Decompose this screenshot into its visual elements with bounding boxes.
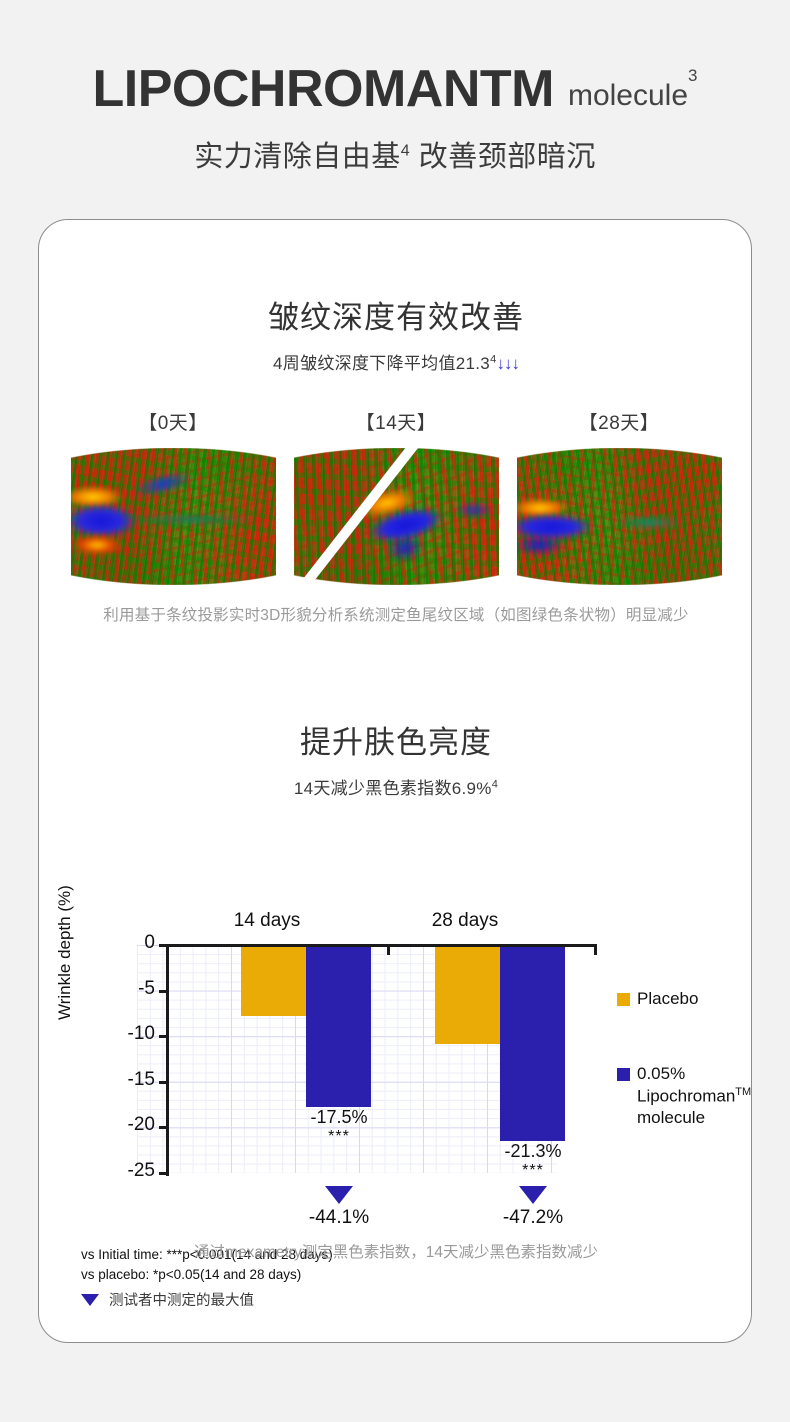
- legend-label-placebo: Placebo: [637, 988, 698, 1010]
- brightness-section-title: 提升肤色亮度: [39, 717, 752, 762]
- chart-ytick-minus25: [159, 1172, 168, 1175]
- wrinkle-subtitle-text: 4周皱纹深度下降平均值21.3: [273, 354, 490, 373]
- chart-ylabel-minus15: -15: [107, 1069, 155, 1091]
- thermal-label-day-14: 【14天】: [294, 408, 499, 435]
- wrinkle-depth-bar-chart: Wrinkle depth (%) 14 days 28 days 0 -5 -…: [39, 900, 752, 1330]
- legend-label-active: 0.05%LipochromanTMmolecule: [637, 1063, 751, 1129]
- chart-ytick-0: [159, 944, 168, 947]
- chart-y-axis: [166, 944, 169, 1176]
- chart-ylabel-minus20: -20: [107, 1114, 155, 1136]
- chart-ylabel-minus25: -25: [107, 1160, 155, 1182]
- thermal-image-row: 【0天】 【14天】: [39, 408, 752, 585]
- page-subtitle-superscript: 4: [401, 142, 410, 159]
- chart-max-marker-note: 测试者中测定的最大值: [81, 1289, 254, 1310]
- max-marker-note-triangle-icon: [81, 1294, 99, 1306]
- brand-name: LIPOCHROMANTM: [93, 62, 554, 117]
- bar-value-active-28-days: -21.3%: [473, 1141, 593, 1162]
- thermal-map-day-0: [71, 448, 276, 585]
- content-card: 皱纹深度有效改善 4周皱纹深度下降平均值21.34↓↓↓ 【0天】 【14天】: [38, 219, 752, 1343]
- brand-molecule-superscript: 3: [688, 66, 697, 85]
- chart-ytick-minus5: [159, 990, 168, 993]
- chart-ylabel-minus5: -5: [107, 978, 155, 1000]
- page-header: LIPOCHROMANTM molecule3 实力清除自由基4 改善颈部暗沉: [0, 0, 790, 175]
- wrinkle-section-subtitle: 4周皱纹深度下降平均值21.34↓↓↓: [39, 349, 752, 374]
- thermal-item-day-0: 【0天】: [71, 408, 276, 585]
- max-marker-triangle-14-days-icon: [325, 1186, 353, 1204]
- max-marker-triangle-28-days-icon: [519, 1186, 547, 1204]
- legend-label-active-line3: molecule: [637, 1108, 705, 1127]
- legend-label-active-trademark: TM: [735, 1086, 751, 1098]
- page-subtitle-pre: 实力清除自由基: [194, 141, 401, 173]
- bar-value-active-14-days: -17.5%: [279, 1107, 399, 1128]
- chart-ylabel-minus10: -10: [107, 1023, 155, 1045]
- max-marker-note-text: 测试者中测定的最大值: [109, 1289, 254, 1310]
- legend-label-active-line1: 0.05%: [637, 1064, 685, 1083]
- chart-legend: Placebo 0.05%LipochromanTMmolecule: [617, 988, 752, 1129]
- thermal-map-day-28: [517, 448, 722, 585]
- chart-group-label-14-days: 14 days: [207, 910, 327, 932]
- chart-axis-end-tick: [594, 944, 597, 955]
- chart-ytick-minus10: [159, 1035, 168, 1038]
- down-arrows-icon: ↓↓↓: [496, 354, 519, 373]
- legend-item-placebo: Placebo: [617, 988, 752, 1010]
- legend-swatch-placebo-icon: [617, 993, 630, 1006]
- chart-axis-group-separator-tick: [387, 944, 390, 955]
- bar-active-14-days: [306, 947, 371, 1107]
- legend-swatch-active-icon: [617, 1068, 630, 1081]
- brightness-section-heading: 提升肤色亮度 14天减少黑色素指数6.9%4: [39, 717, 752, 799]
- thermal-caption: 利用基于条纹投影实时3D形貌分析系统测定鱼尾纹区域（如图绿色条状物）明显减少: [39, 603, 752, 625]
- brand-title: LIPOCHROMANTM molecule3: [0, 62, 790, 117]
- thermal-item-day-28: 【28天】: [517, 408, 722, 585]
- thermal-label-day-28: 【28天】: [517, 408, 722, 435]
- brightness-subtitle-text: 14天减少黑色素指数6.9%: [294, 779, 492, 798]
- legend-item-active: 0.05%LipochromanTMmolecule: [617, 1063, 752, 1129]
- bar-significance-active-28-days: ***: [473, 1162, 593, 1180]
- brightness-subtitle-superscript: 4: [492, 778, 498, 790]
- bar-significance-active-14-days: ***: [279, 1128, 399, 1146]
- chart-footnote-2: vs placebo: *p<0.05(14 and 28 days): [81, 1265, 333, 1285]
- chart-group-label-28-days: 28 days: [405, 910, 525, 932]
- wrinkle-section-title: 皱纹深度有效改善: [39, 292, 752, 337]
- page-subtitle-post: 改善颈部暗沉: [410, 141, 596, 173]
- thermal-label-day-0: 【0天】: [71, 408, 276, 435]
- brightness-caption: 通过mexametry测定黑色素指数，14天减少黑色素指数减少: [39, 1240, 752, 1262]
- max-marker-label-14-days: -44.1%: [279, 1207, 399, 1229]
- chart-ytick-minus15: [159, 1081, 168, 1084]
- brand-molecule: molecule3: [568, 80, 698, 111]
- thermal-map-day-14: [294, 448, 499, 585]
- bar-placebo-14-days: [241, 947, 306, 1016]
- chart-ylabel-0: 0: [107, 932, 155, 954]
- thermal-item-day-14: 【14天】: [294, 408, 499, 585]
- legend-label-active-line2: Lipochroman: [637, 1086, 735, 1105]
- wrinkle-section-heading: 皱纹深度有效改善 4周皱纹深度下降平均值21.34↓↓↓: [39, 292, 752, 374]
- page-subtitle: 实力清除自由基4 改善颈部暗沉: [0, 133, 790, 175]
- chart-ytick-minus20: [159, 1126, 168, 1129]
- chart-y-axis-label: Wrinkle depth (%): [55, 885, 75, 1020]
- brightness-section-subtitle: 14天减少黑色素指数6.9%4: [39, 774, 752, 799]
- bar-active-28-days: [500, 947, 565, 1141]
- brand-molecule-text: molecule: [568, 79, 688, 112]
- bar-placebo-28-days: [435, 947, 500, 1044]
- max-marker-label-28-days: -47.2%: [473, 1207, 593, 1229]
